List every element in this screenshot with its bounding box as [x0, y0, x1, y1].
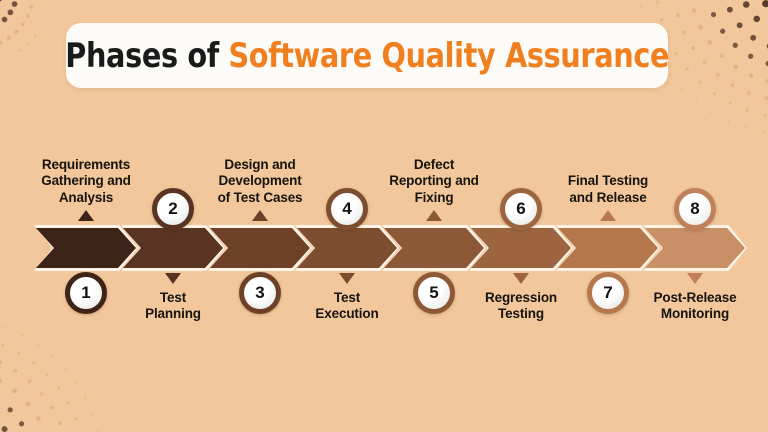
phase-flow-diagram: 1RequirementsGathering andAnalysis2TestP…: [0, 120, 768, 350]
phase-label-line: Monitoring: [613, 306, 768, 322]
connector-triangle-up-icon: [426, 210, 442, 221]
page-title: Phases of Software Quality Assurance: [65, 36, 669, 76]
phase-step-2[interactable]: 2TestPlanning: [123, 120, 223, 350]
chevron-arrow[interactable]: [645, 228, 745, 268]
title-card: Phases of Software Quality Assurance: [66, 23, 668, 88]
connector-triangle-up-icon: [252, 210, 268, 221]
chevron-arrow[interactable]: [210, 228, 310, 268]
dot-arc-decoration-top-left: [0, 0, 40, 52]
phase-label-8: Post-ReleaseMonitoring: [613, 290, 768, 323]
chevron-arrow[interactable]: [123, 228, 223, 268]
phase-step-4[interactable]: 4TestExecution: [297, 120, 397, 350]
connector-triangle-up-icon: [600, 210, 616, 221]
page-title-accent: Software Quality Assurance: [228, 36, 669, 76]
chevron-arrow[interactable]: [36, 228, 136, 268]
connector-triangle-down-icon: [687, 273, 703, 284]
page-title-prefix: Phases of: [65, 36, 228, 76]
connector-triangle-up-icon: [78, 210, 94, 221]
infographic-canvas: Phases of Software Quality Assurance 1Re…: [0, 0, 768, 432]
connector-triangle-down-icon: [165, 273, 181, 284]
step-number-badge-8[interactable]: 8: [674, 188, 716, 230]
chevron-arrow[interactable]: [558, 228, 658, 268]
phase-step-6[interactable]: 6RegressionTesting: [471, 120, 571, 350]
chevron-arrow[interactable]: [384, 228, 484, 268]
connector-triangle-down-icon: [513, 273, 529, 284]
chevron-arrow[interactable]: [471, 228, 571, 268]
phase-label-line: Post-Release: [613, 290, 768, 306]
chevron-arrow[interactable]: [297, 228, 397, 268]
connector-triangle-down-icon: [339, 273, 355, 284]
phase-step-8[interactable]: 8Post-ReleaseMonitoring: [645, 120, 745, 350]
